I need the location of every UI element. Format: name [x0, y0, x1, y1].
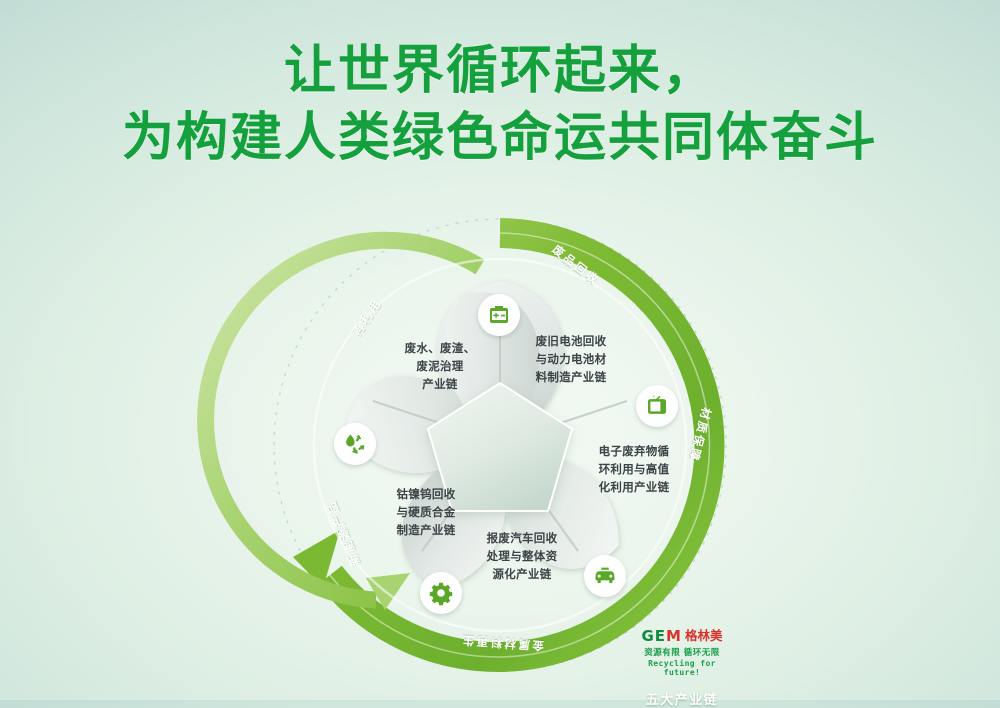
headline-line-2: 为构建人类绿色命运共同体奋斗 [0, 105, 1000, 172]
gear-icon [420, 572, 462, 614]
water-recycle-icon-glyph [343, 432, 367, 456]
page-headline: 让世界循环起来， 为构建人类绿色命运共同体奋斗 [0, 38, 1000, 171]
diagram-svg [180, 205, 820, 685]
gem-logo: GEM 格林美 资源有限 循环无限 Recycling for future! [636, 629, 728, 677]
car-icon-glyph [593, 564, 617, 588]
logo-wordmark-row: GEM 格林美 [636, 629, 728, 644]
headline-line-1: 让世界循环起来， [0, 38, 1000, 105]
logo-latin-wordmark: GEM [641, 629, 682, 644]
water-recycle-icon [334, 423, 376, 465]
circular-diagram: 废品回收 材质保障 金属材料再生 新能源产品 再利用 废旧电池回收 与动力电池材… [180, 205, 820, 685]
logo-slogan-cn: 资源有限 循环无限 [636, 646, 728, 658]
battery-icon [478, 294, 520, 336]
logo-chinese-wordmark: 格林美 [685, 630, 723, 643]
television-icon-glyph [645, 394, 669, 418]
battery-icon-glyph [487, 303, 511, 327]
logo-slogan-en: Recycling for future! [636, 659, 728, 677]
car-icon [584, 555, 626, 597]
television-icon [636, 385, 678, 427]
gear-icon-glyph [429, 581, 453, 605]
logo-latin-ge: GE [641, 627, 666, 645]
logo-latin-m: M [666, 627, 682, 645]
core-label-five-chains: 五大产业链 [636, 689, 728, 708]
